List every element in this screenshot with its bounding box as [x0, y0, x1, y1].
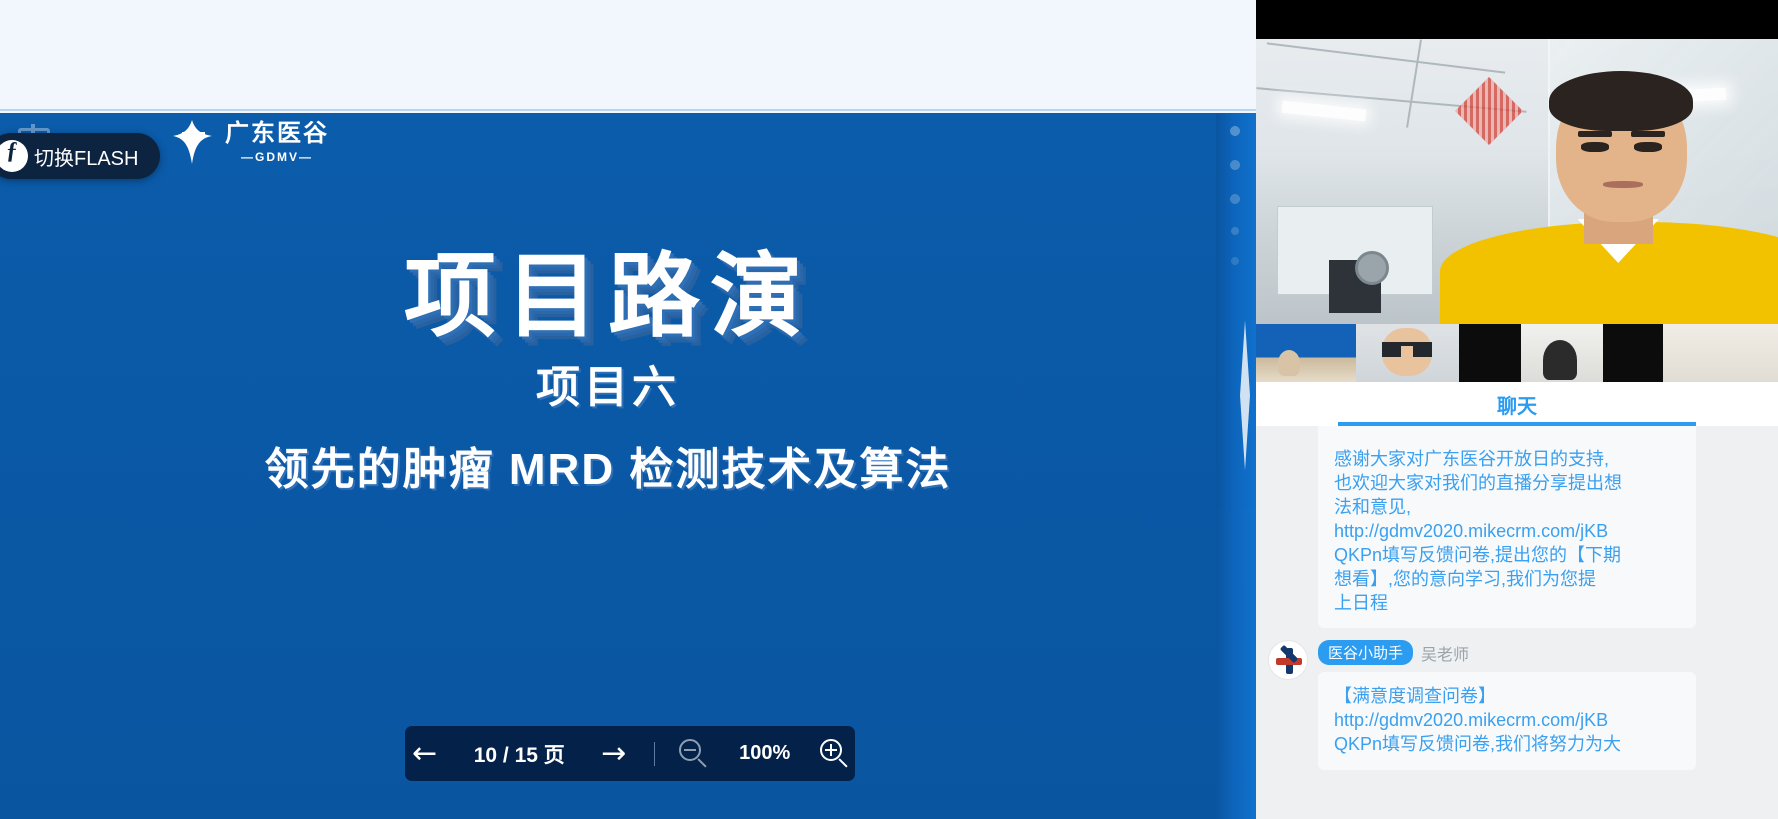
switch-flash-label: 切换FLASH	[34, 142, 138, 171]
status-badge: 医谷小助手	[1318, 640, 1413, 665]
zoom-level: 100%	[734, 742, 796, 765]
participant-thumbnail[interactable]	[1459, 324, 1521, 382]
participant-thumbnail[interactable]	[1356, 324, 1459, 382]
zoom-in-icon	[820, 739, 850, 769]
chat-link[interactable]: http://gdmv2020.mikecrm.com/jKB	[1334, 520, 1680, 544]
prev-page-button[interactable]: ←	[405, 734, 444, 774]
slide-title: 项目路演	[0, 222, 1216, 355]
chat-bubble: 【满意度调查问卷】 http://gdmv2020.mikecrm.com/jK…	[1318, 672, 1696, 770]
chat-line: 上日程	[1334, 592, 1680, 616]
slide-toolbar: ← 10 / 15 页 → 100%	[405, 726, 855, 781]
slide-headline: 领先的肿瘤 MRD 检测技术及算法	[0, 433, 1216, 497]
chat-line: QKPn填写反馈问卷,我们将努力为大	[1334, 733, 1680, 757]
speaker-figure	[1465, 63, 1778, 337]
gdmv-logo: 广东医谷 —GDMV—	[171, 118, 329, 166]
video-area[interactable]	[1256, 0, 1778, 382]
gdmv-cross-icon	[171, 118, 215, 166]
chat-tab-bar: 聊天	[1256, 382, 1778, 426]
right-panel: 聊天 加活动的大家: 感谢大家对广东医谷开放日的支持, 也欢迎大家对我们的直播分…	[1256, 0, 1778, 819]
chat-link[interactable]: http://gdmv2020.mikecrm.com/jKB	[1334, 709, 1680, 733]
ceiling-lamp-icon	[1282, 100, 1366, 121]
participant-thumbnail[interactable]	[1521, 324, 1603, 382]
chat-message-header: 医谷小助手 吴老师	[1318, 640, 1778, 665]
flash-icon	[0, 140, 28, 172]
chat-line: QKPn填写反馈问卷,提出您的【下期	[1334, 544, 1680, 568]
zoom-out-button[interactable]	[674, 734, 713, 774]
arrow-left-icon: ←	[412, 739, 437, 769]
chat-line: 也欢迎大家对我们的直播分享提出想	[1334, 472, 1680, 496]
slide-viewer: 创客中国 广东医谷 —GDMV— 项目路演 项目六	[0, 0, 1256, 819]
zoom-out-icon	[679, 739, 709, 769]
fan	[1355, 251, 1389, 285]
slide-edge-dots	[1224, 113, 1246, 413]
zoom-in-button[interactable]	[816, 734, 855, 774]
avatar[interactable]	[1268, 640, 1308, 680]
chat-bubble: 加活动的大家: 感谢大家对广东医谷开放日的支持, 也欢迎大家对我们的直播分享提出…	[1318, 426, 1696, 628]
slide-subtitle: 项目六	[0, 351, 1216, 415]
switch-flash-button[interactable]: 切换FLASH	[0, 133, 160, 179]
chat-message-list[interactable]: 加活动的大家: 感谢大家对广东医谷开放日的支持, 也欢迎大家对我们的直播分享提出…	[1256, 426, 1778, 819]
presentation-slide: 创客中国 广东医谷 —GDMV— 项目路演 项目六	[0, 113, 1256, 819]
tab-chat[interactable]: 聊天	[1497, 390, 1537, 419]
gdmv-name-en: —GDMV—	[225, 151, 329, 163]
participant-thumbnail[interactable]	[1256, 324, 1356, 382]
chat-message: 医谷小助手 吴老师 【满意度调查问卷】 http://gdmv2020.mike…	[1268, 640, 1778, 770]
chat-line: 想看】,您的意向学习,我们为您提	[1334, 568, 1680, 592]
chat-line: 感谢大家对广东医谷开放日的支持,	[1334, 448, 1680, 472]
page-indicator: 10 / 15 页	[464, 739, 574, 769]
gdmv-name-cn: 广东医谷	[225, 122, 329, 146]
participant-thumbnail[interactable]	[1663, 324, 1778, 382]
chat-line: 法和意见,	[1334, 496, 1680, 520]
slide-edge-decoration	[1216, 113, 1256, 819]
next-page-button[interactable]: →	[594, 734, 633, 774]
toolbar-divider	[654, 742, 655, 766]
main-speaker-video[interactable]	[1256, 39, 1778, 337]
arrow-right-icon: →	[601, 739, 626, 769]
chat-line: 【满意度调查问卷】	[1334, 685, 1680, 709]
chat-message: 加活动的大家: 感谢大家对广东医谷开放日的支持, 也欢迎大家对我们的直播分享提出…	[1268, 426, 1778, 628]
participant-thumbnail[interactable]	[1603, 324, 1663, 382]
participant-thumbnail-strip	[1256, 324, 1778, 382]
viewer-top-band	[0, 0, 1256, 111]
medical-cross-icon	[1276, 658, 1302, 665]
chat-username: 吴老师	[1421, 641, 1469, 665]
gdmv-logo-text: 广东医谷 —GDMV—	[225, 122, 329, 163]
chat-panel: 聊天 加活动的大家: 感谢大家对广东医谷开放日的支持, 也欢迎大家对我们的直播分…	[1256, 382, 1778, 819]
live-webinar-screen: 创客中国 广东医谷 —GDMV— 项目路演 项目六	[0, 0, 1778, 819]
